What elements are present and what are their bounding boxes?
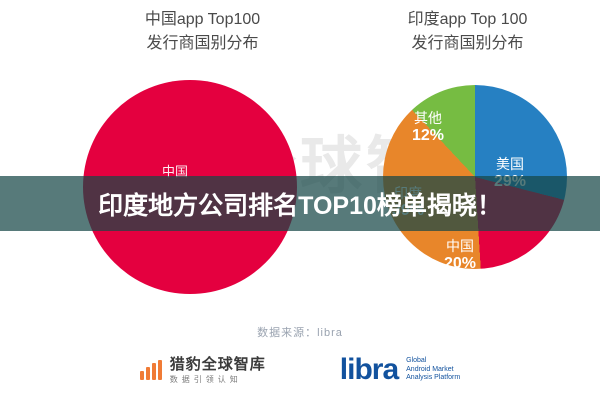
overlay-banner: 印度地方公司排名TOP10榜单揭晓！: [0, 176, 600, 231]
chart-title-right: 印度app Top 100 发行商国别分布: [360, 8, 575, 56]
chart-title-left-line2: 发行商国别分布: [95, 32, 310, 56]
libra-logo: libra Global Android Market Analysis Pla…: [340, 356, 460, 384]
libra-wordmark: libra: [340, 356, 398, 384]
libra-tagline: Global Android Market Analysis Platform: [406, 357, 460, 383]
overlay-headline: 印度地方公司排名TOP10榜单揭晓！: [98, 186, 502, 222]
chart-title-left: 中国app Top100 发行商国别分布: [95, 8, 310, 56]
bar-chart-icon: [140, 360, 162, 380]
cheetah-logo-sub: 数据引领认知: [170, 375, 266, 384]
libra-tagline-line1: Global: [406, 357, 460, 366]
data-source-text: 数据来源：libra: [0, 324, 600, 340]
chart-title-right-line1: 印度app Top 100: [408, 11, 528, 28]
libra-tagline-line3: Analysis Platform: [406, 374, 460, 383]
chart-title-right-line2: 发行商国别分布: [360, 32, 575, 56]
cheetah-logo: 猎豹全球智库 数据引领认知: [140, 357, 266, 384]
footer-logos: 猎豹全球智库 数据引领认知 libra Global Android Marke…: [0, 348, 600, 392]
libra-tagline-line2: Android Market: [406, 366, 460, 375]
chart-title-left-line1: 中国app Top100: [145, 11, 260, 28]
cheetah-logo-main: 猎豹全球智库: [170, 357, 266, 373]
infographic-canvas: 猎豹全球智库 中国app Top100 发行商国别分布 印度app Top 10…: [0, 0, 600, 400]
cheetah-logo-text: 猎豹全球智库 数据引领认知: [170, 357, 266, 384]
